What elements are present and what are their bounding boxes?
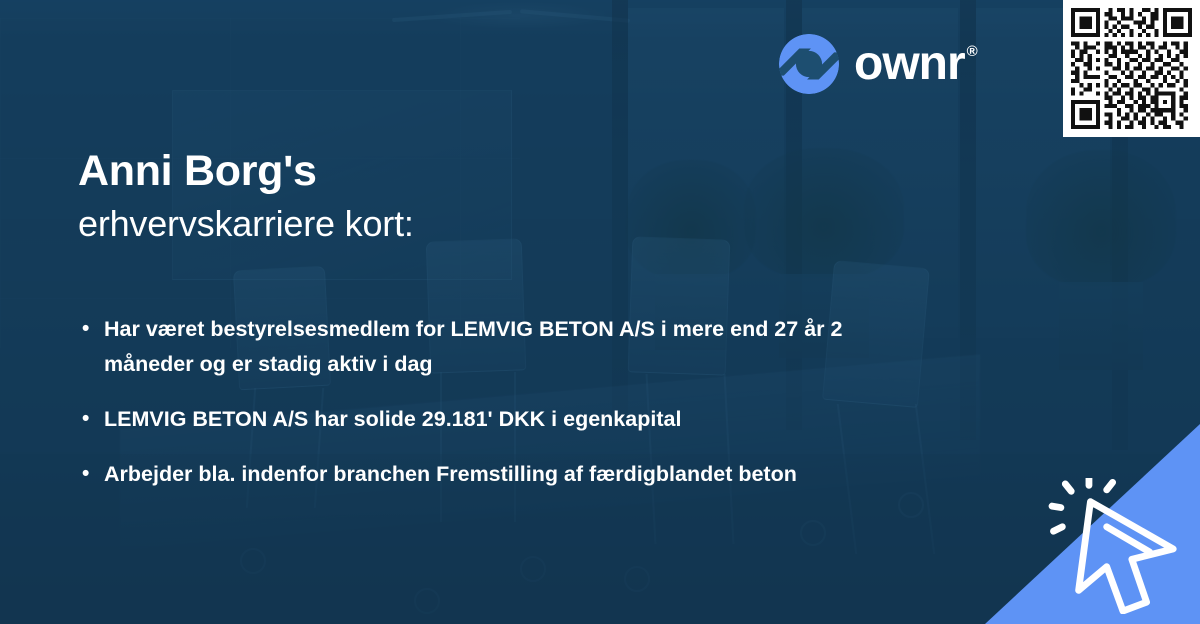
page-title: Anni Borg's [78, 148, 958, 194]
ownr-swirl-logo-icon [778, 33, 840, 95]
ownr-logo[interactable]: ownr ® [778, 33, 977, 95]
page-subtitle: erhvervskarriere kort: [78, 201, 958, 246]
business-card-banner: ownr ® [0, 0, 1200, 624]
registered-trademark-icon: ® [967, 44, 977, 59]
list-item: Arbejder bla. indenfor branchen Fremstil… [78, 457, 878, 492]
career-highlights-list: Har været bestyrelsesmedlem for LEMVIG B… [78, 312, 958, 491]
click-cursor-icon [1046, 478, 1194, 614]
card-content: Anni Borg's erhvervskarriere kort: Har v… [78, 148, 958, 512]
brand-name: ownr [854, 40, 965, 88]
ownr-wordmark: ownr ® [854, 40, 977, 88]
qr-code-icon [1071, 8, 1192, 129]
qr-code-panel[interactable] [1063, 0, 1200, 137]
list-item: Har været bestyrelsesmedlem for LEMVIG B… [78, 312, 878, 382]
list-item: LEMVIG BETON A/S har solide 29.181' DKK … [78, 402, 878, 437]
